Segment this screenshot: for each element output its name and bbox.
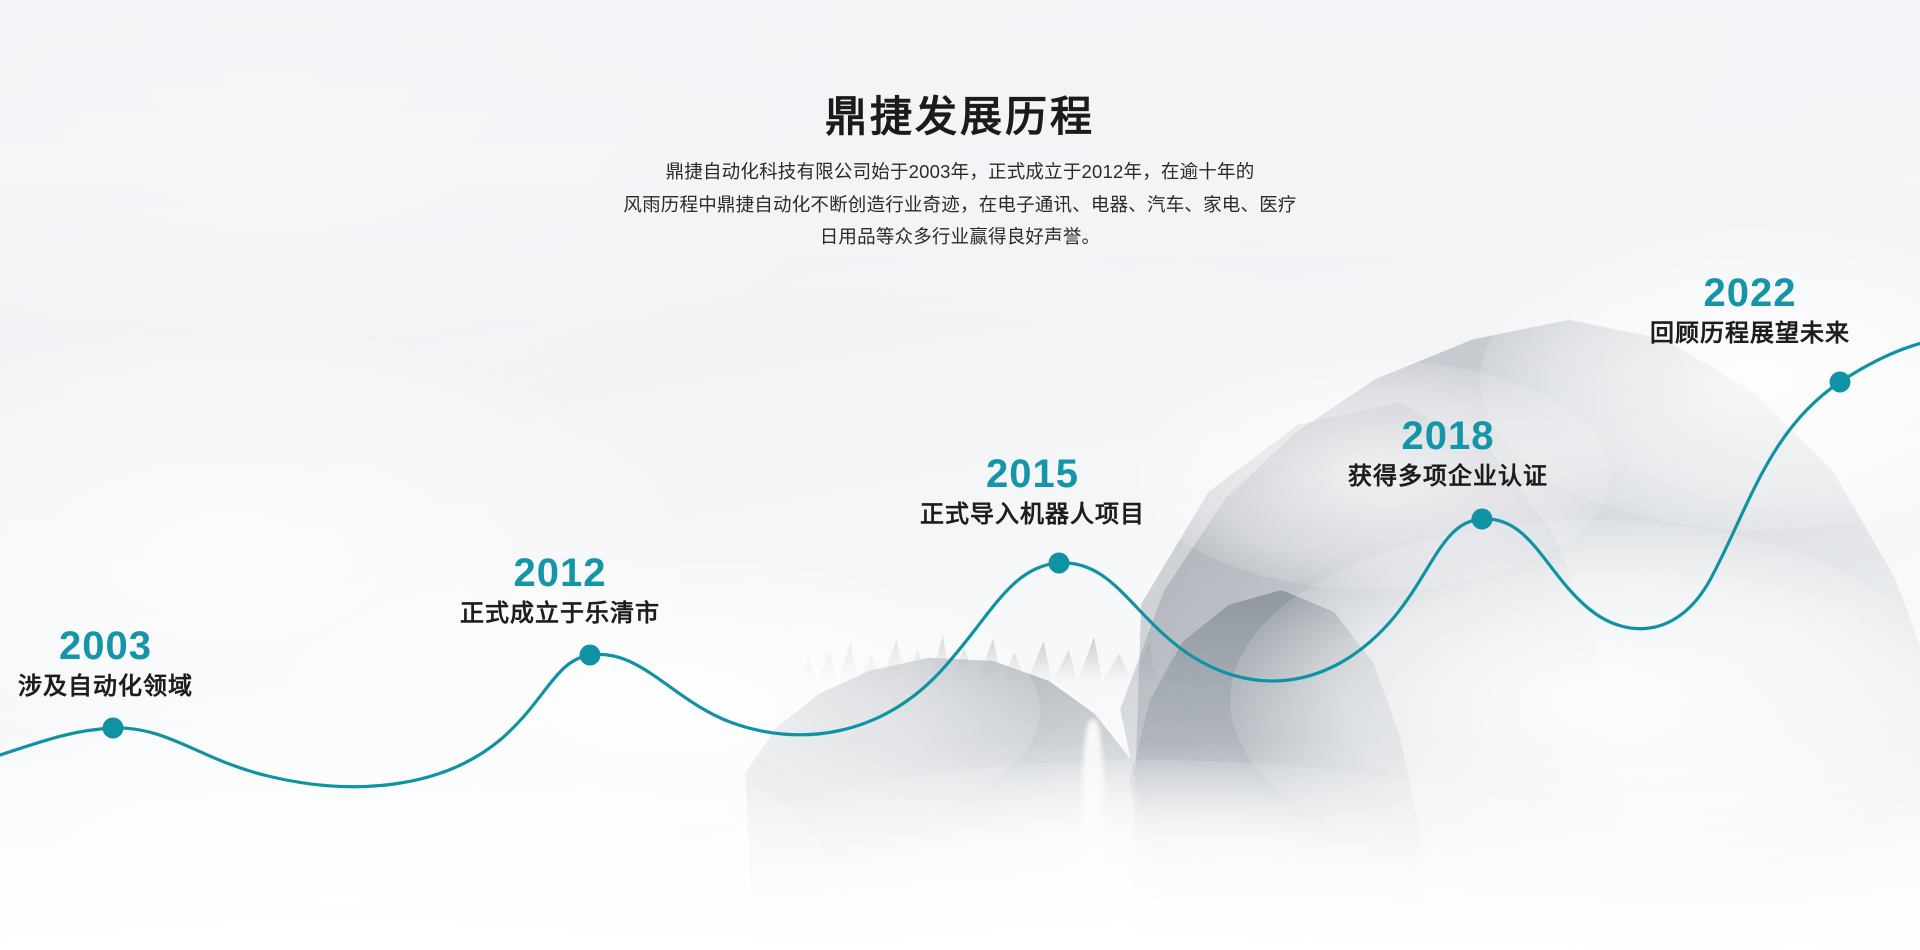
milestone-desc-2022: 回顾历程展望未来	[1650, 319, 1850, 349]
milestone-2003[interactable]: 2003 涉及自动化领域	[18, 625, 193, 702]
timeline-curve	[0, 336, 1920, 787]
timeline-poster: 鼎捷发展历程 鼎捷自动化科技有限公司始于2003年，正式成立于2012年，在逾十…	[0, 0, 1920, 950]
milestone-2015[interactable]: 2015 正式导入机器人项目	[920, 453, 1145, 530]
milestone-year-2022: 2022	[1650, 272, 1850, 314]
milestone-desc-2015: 正式导入机器人项目	[920, 500, 1145, 530]
milestone-desc-2003: 涉及自动化领域	[18, 672, 193, 702]
timeline-node-2012[interactable]	[580, 645, 601, 666]
timeline-node-2003[interactable]	[103, 718, 124, 739]
milestone-2012[interactable]: 2012 正式成立于乐清市	[460, 552, 660, 629]
milestone-2022[interactable]: 2022 回顾历程展望未来	[1650, 272, 1850, 349]
timeline-nodes	[103, 372, 1851, 739]
milestone-2018[interactable]: 2018 获得多项企业认证	[1348, 415, 1548, 492]
timeline-node-2022[interactable]	[1830, 372, 1851, 393]
milestone-desc-2018: 获得多项企业认证	[1348, 462, 1548, 492]
timeline-node-2015[interactable]	[1049, 553, 1070, 574]
timeline-node-2018[interactable]	[1472, 509, 1493, 530]
milestone-year-2015: 2015	[920, 453, 1145, 495]
milestone-year-2003: 2003	[18, 625, 193, 667]
milestone-year-2012: 2012	[460, 552, 660, 594]
milestone-desc-2012: 正式成立于乐清市	[460, 599, 660, 629]
milestone-year-2018: 2018	[1348, 415, 1548, 457]
